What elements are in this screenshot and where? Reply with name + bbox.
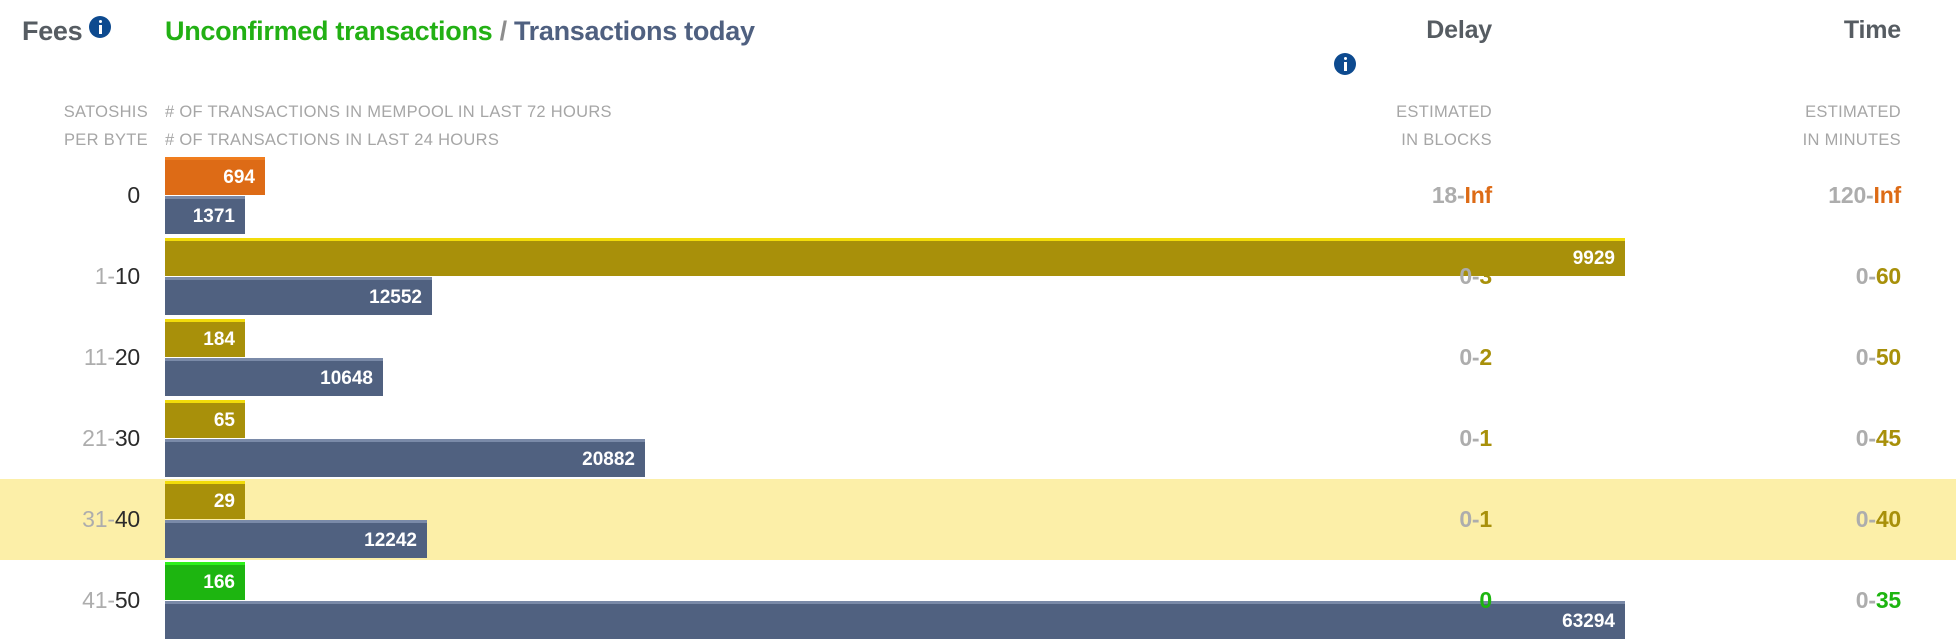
fee-range-label: 31-40 — [0, 479, 140, 560]
time-value: 0-50 — [1701, 317, 1901, 398]
delay-suffix: Inf — [1465, 182, 1493, 209]
fee-range-label: 11-20 — [0, 317, 140, 398]
bar-transactions-today[interactable]: 1371 — [165, 196, 245, 234]
bar-value: 20882 — [582, 449, 635, 471]
fee-range-suffix: 30 — [115, 425, 140, 452]
delay-prefix: 0- — [1459, 263, 1479, 290]
delay-suffix: 0 — [1479, 587, 1492, 614]
bar-value: 184 — [203, 329, 235, 351]
bar-value: 63294 — [1562, 611, 1615, 633]
time-prefix: 0- — [1856, 587, 1876, 614]
time-value: 0-45 — [1701, 398, 1901, 479]
bar-value: 12552 — [369, 287, 422, 309]
time-value: 0-35 — [1701, 560, 1901, 641]
table-row[interactable]: 0694137118-Inf120-Inf — [0, 155, 1956, 236]
fees-header-label: Fees — [22, 16, 82, 46]
bar-value: 10648 — [320, 368, 373, 390]
bar-unconfirmed-transactions[interactable]: 65 — [165, 400, 245, 438]
table-row[interactable]: 11-20184106480-20-50 — [0, 317, 1956, 398]
time-suffix: 60 — [1876, 263, 1901, 290]
estimated-blocks-subheader: ESTIMATED IN BLOCKS — [1292, 98, 1492, 154]
delay-value: 0-3 — [1292, 236, 1492, 317]
bar-transactions-today[interactable]: 10648 — [165, 358, 383, 396]
fee-range-label: 41-50 — [0, 560, 140, 641]
time-prefix: 120- — [1828, 182, 1873, 209]
mempool-fees-chart: Fees Unconfirmed transactions / Transact… — [0, 0, 1956, 642]
bar-value: 29 — [214, 491, 235, 513]
chart-title: Unconfirmed transactions / Transactions … — [165, 16, 755, 47]
delay-prefix: 0- — [1459, 425, 1479, 452]
fee-range-prefix: 31- — [82, 506, 115, 533]
time-suffix: 50 — [1876, 344, 1901, 371]
time-value: 120-Inf — [1701, 155, 1901, 236]
time-header-label: Time — [1701, 16, 1901, 45]
delay-suffix: 1 — [1479, 506, 1492, 533]
fee-range-prefix: 41- — [82, 587, 115, 614]
delay-prefix: 0- — [1459, 344, 1479, 371]
fee-range-suffix: 40 — [115, 506, 140, 533]
bar-unconfirmed-transactions[interactable]: 29 — [165, 481, 245, 519]
time-suffix: 40 — [1876, 506, 1901, 533]
time-value: 0-40 — [1701, 479, 1901, 560]
satoshis-per-byte-subheader: SATOSHIS PER BYTE — [28, 98, 148, 154]
bar-transactions-today[interactable]: 20882 — [165, 439, 645, 477]
fee-range-suffix: 50 — [115, 587, 140, 614]
bar-value: 65 — [214, 410, 235, 432]
title-transactions-today[interactable]: Transactions today — [514, 16, 755, 46]
estimated-minutes-subheader: ESTIMATED IN MINUTES — [1701, 98, 1901, 154]
delay-info-icon[interactable] — [1334, 53, 1356, 75]
time-prefix: 0- — [1856, 425, 1876, 452]
time-prefix: 0- — [1856, 263, 1876, 290]
time-prefix: 0- — [1856, 506, 1876, 533]
delay-value: 0-1 — [1292, 479, 1492, 560]
bar-value: 166 — [203, 572, 235, 594]
fee-range-label: 0 — [0, 155, 140, 236]
bar-value: 12242 — [364, 530, 417, 552]
title-separator: / — [500, 16, 507, 46]
delay-value: 0-2 — [1292, 317, 1492, 398]
delay-prefix: 0- — [1459, 506, 1479, 533]
bar-value: 694 — [223, 167, 255, 189]
time-value: 0-60 — [1701, 236, 1901, 317]
time-suffix: Inf — [1874, 182, 1902, 209]
title-unconfirmed-transactions[interactable]: Unconfirmed transactions — [165, 16, 492, 46]
transactions-subheader: # OF TRANSACTIONS IN MEMPOOL IN LAST 72 … — [165, 98, 612, 154]
delay-value: 0-1 — [1292, 398, 1492, 479]
delay-prefix: 18- — [1432, 182, 1465, 209]
delay-value: 0 — [1292, 560, 1492, 641]
fee-range-label: 1-10 — [0, 236, 140, 317]
bar-value: 9929 — [1573, 248, 1615, 270]
delay-suffix: 1 — [1479, 425, 1492, 452]
delay-value: 18-Inf — [1292, 155, 1492, 236]
table-row[interactable]: 1-109929125520-30-60 — [0, 236, 1956, 317]
fee-range-prefix: 11- — [84, 344, 115, 371]
fee-range-prefix: 21- — [82, 425, 115, 452]
bar-value: 1371 — [193, 206, 235, 228]
chart-header: Fees Unconfirmed transactions / Transact… — [0, 0, 1956, 155]
bar-unconfirmed-transactions[interactable]: 694 — [165, 157, 265, 195]
fee-range-prefix: 1- — [95, 263, 115, 290]
fees-info-icon[interactable] — [89, 16, 111, 38]
delay-suffix: 3 — [1479, 263, 1492, 290]
time-suffix: 45 — [1876, 425, 1901, 452]
fee-range-suffix: 20 — [115, 344, 140, 371]
time-prefix: 0- — [1856, 344, 1876, 371]
delay-suffix: 2 — [1479, 344, 1492, 371]
fees-header: Fees — [22, 16, 111, 47]
bar-unconfirmed-transactions[interactable]: 184 — [165, 319, 245, 357]
bar-unconfirmed-transactions[interactable]: 166 — [165, 562, 245, 600]
table-row[interactable]: 41-501666329400-35 — [0, 560, 1956, 641]
fee-range-suffix: 10 — [115, 263, 140, 290]
fee-rows: 0694137118-Inf120-Inf1-109929125520-30-6… — [0, 155, 1956, 642]
delay-header-label: Delay — [1292, 16, 1492, 45]
fee-range-label: 21-30 — [0, 398, 140, 479]
bar-transactions-today[interactable]: 12242 — [165, 520, 427, 558]
fee-range-suffix: 0 — [127, 182, 140, 209]
time-suffix: 35 — [1876, 587, 1901, 614]
table-row[interactable]: 21-3065208820-10-45 — [0, 398, 1956, 479]
bar-transactions-today[interactable]: 12552 — [165, 277, 432, 315]
table-row[interactable]: 31-4029122420-10-40 — [0, 479, 1956, 560]
